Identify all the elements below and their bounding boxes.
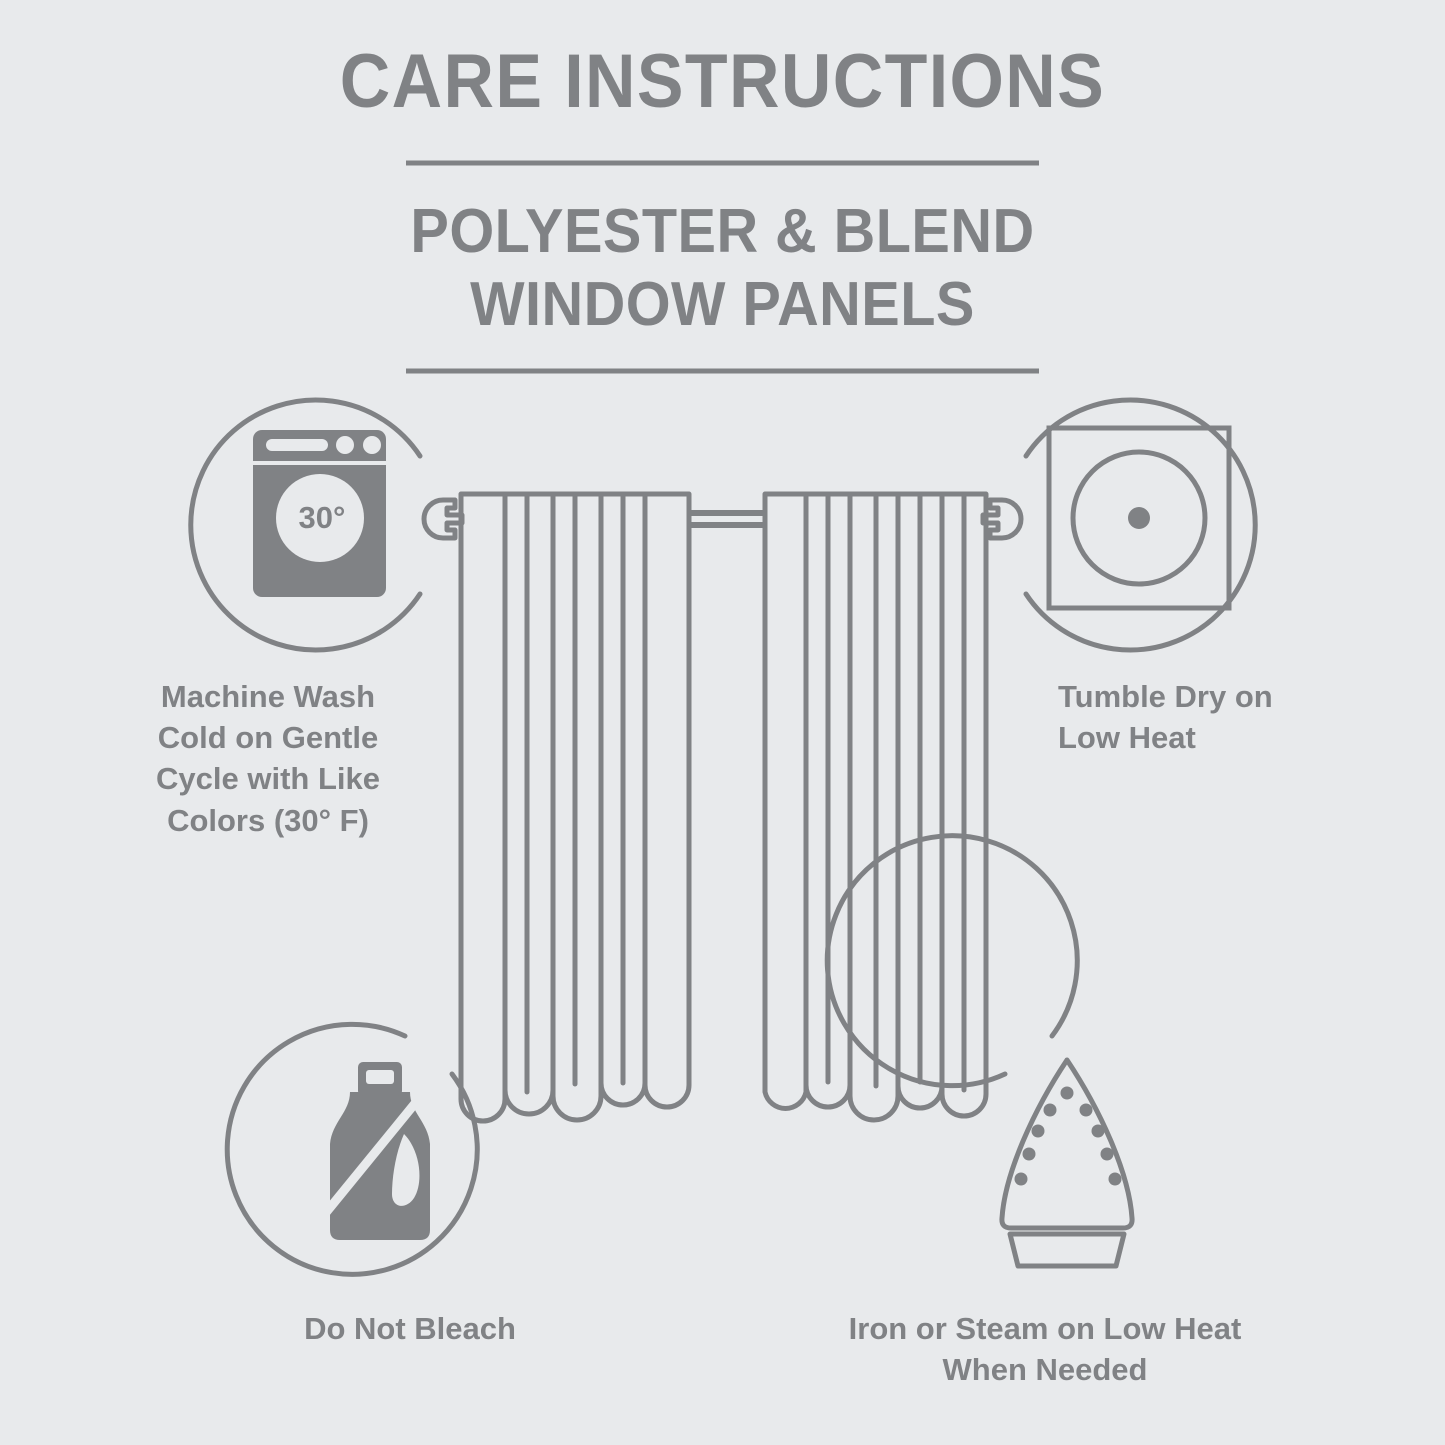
iron-steam-hole bbox=[1061, 1087, 1074, 1100]
iron-steam-hole bbox=[1109, 1173, 1122, 1186]
tumble-dry-icon bbox=[1026, 400, 1255, 650]
iron-icon bbox=[827, 836, 1132, 1266]
iron-steam-hole bbox=[1015, 1173, 1028, 1186]
iron-steam-hole bbox=[1023, 1148, 1036, 1161]
no-bleach-icon bbox=[227, 1024, 477, 1274]
bleach-bottle-cap-hole bbox=[366, 1070, 394, 1084]
iron-steam-hole bbox=[1092, 1125, 1105, 1138]
iron-soleplate bbox=[1002, 1060, 1132, 1228]
washer-temperature-label: 30° bbox=[282, 500, 362, 536]
illustration-stage: CARE INSTRUCTIONS POLYESTER & BLEND WIND… bbox=[0, 0, 1445, 1445]
iron-steam-hole bbox=[1101, 1148, 1114, 1161]
rod-tube bbox=[688, 513, 765, 525]
tumble-dry-caption: Tumble Dry on Low Heat bbox=[1010, 676, 1370, 758]
washer-control-slider bbox=[266, 439, 328, 451]
iron-circle-outline bbox=[827, 836, 1077, 1086]
iron-steam-hole bbox=[1032, 1125, 1045, 1138]
washer-panel-divider bbox=[253, 461, 386, 465]
iron-steam-hole bbox=[1044, 1104, 1057, 1117]
washer-knob-right bbox=[363, 436, 381, 454]
finial-right bbox=[983, 500, 1021, 538]
page-subtitle: POLYESTER & BLEND WINDOW PANELS bbox=[51, 196, 1395, 341]
left-curtain-panel bbox=[461, 494, 689, 1121]
washer-knob-left bbox=[336, 436, 354, 454]
iron-caption: Iron or Steam on Low Heat When Needed bbox=[810, 1308, 1280, 1390]
page-title: CARE INSTRUCTIONS bbox=[58, 44, 1387, 120]
machine-wash-caption: Machine Wash Cold on Gentle Cycle with L… bbox=[88, 676, 448, 841]
do-not-bleach-caption: Do Not Bleach bbox=[225, 1308, 595, 1349]
dryer-heat-dot bbox=[1128, 507, 1150, 529]
finial-left bbox=[424, 500, 462, 538]
right-curtain-panel bbox=[765, 494, 986, 1120]
iron-base-plate bbox=[1010, 1234, 1124, 1266]
iron-steam-hole bbox=[1080, 1104, 1093, 1117]
curtain-rod bbox=[424, 500, 1021, 538]
care-instructions-card: CARE INSTRUCTIONS POLYESTER & BLEND WIND… bbox=[0, 0, 1445, 1445]
